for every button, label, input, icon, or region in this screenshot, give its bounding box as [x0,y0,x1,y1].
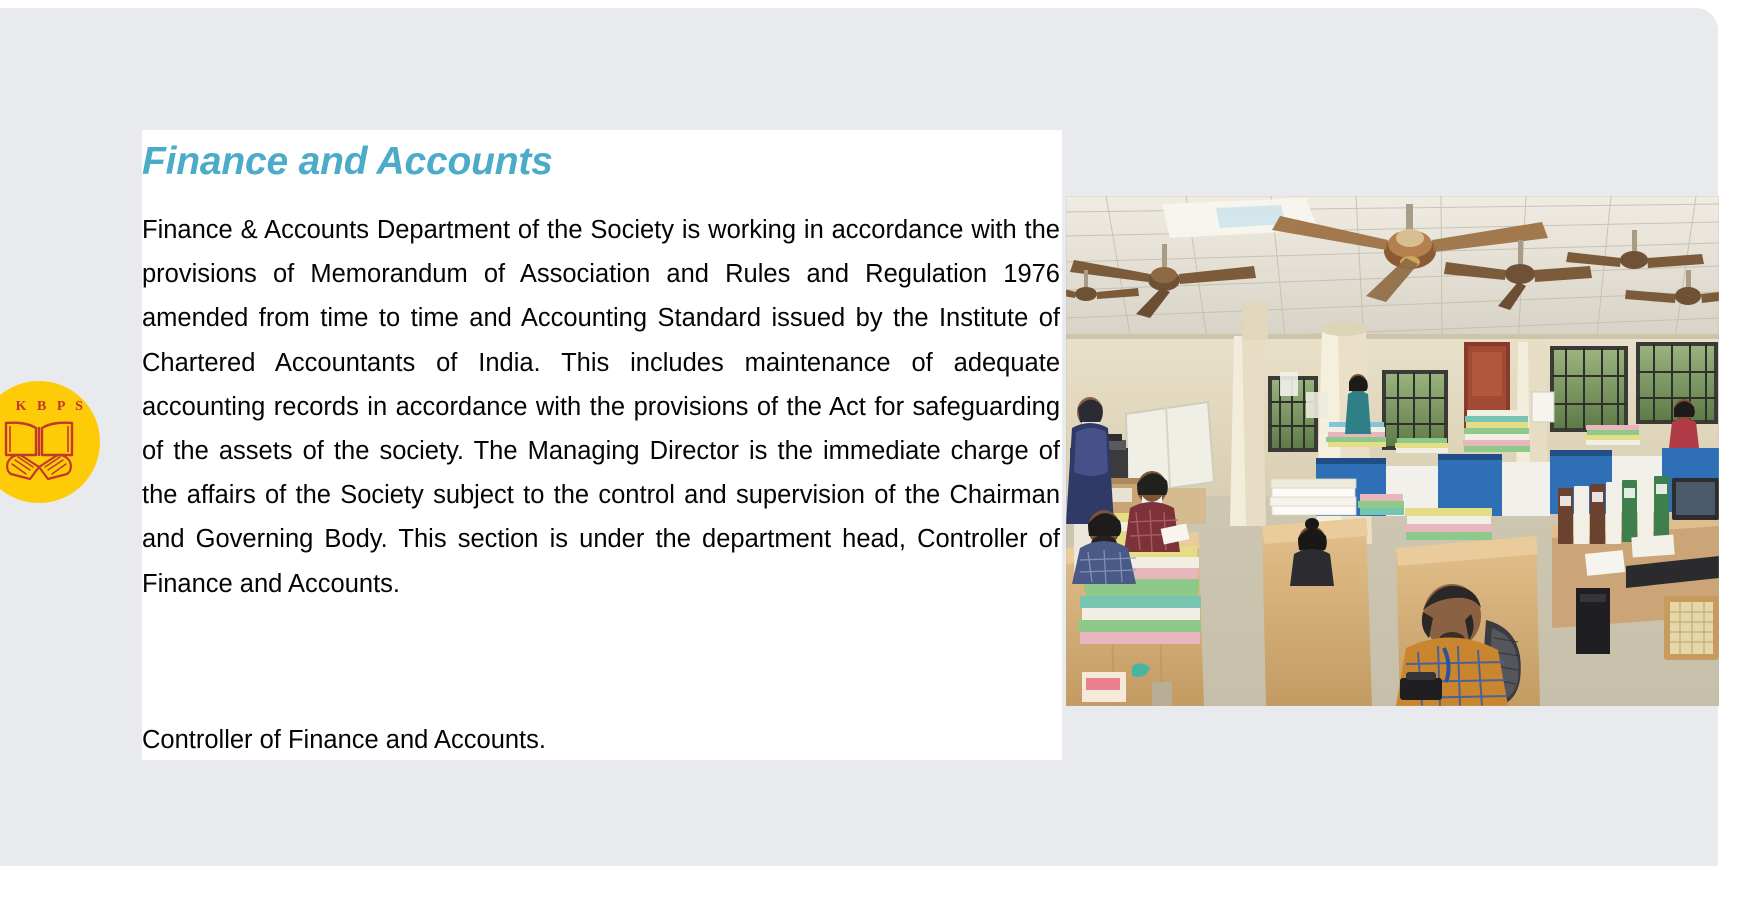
slide-viewer: K B P S [0,0,1753,900]
slide-canvas: K B P S [0,8,1718,866]
content-card: Finance and Accounts Finance & Accounts … [142,130,1062,760]
viewer-right-gutter [1718,0,1753,900]
office-photo-illustration [1066,196,1719,706]
kbps-logo-inner: K B P S [0,381,100,503]
open-book-in-hands-icon [2,415,76,481]
viewer-top-gutter [0,0,1753,8]
finance-accounts-office-photograph [1066,196,1719,706]
body-paragraph: Finance & Accounts Department of the Soc… [142,208,1060,606]
page-title: Finance and Accounts [142,140,1042,184]
body-overflow-line: Controller of Finance and Accounts. [142,718,1060,760]
viewer-bottom-gutter [0,866,1753,900]
kbps-acronym-text: K B P S [0,399,100,415]
kbps-logo: K B P S [0,381,100,503]
